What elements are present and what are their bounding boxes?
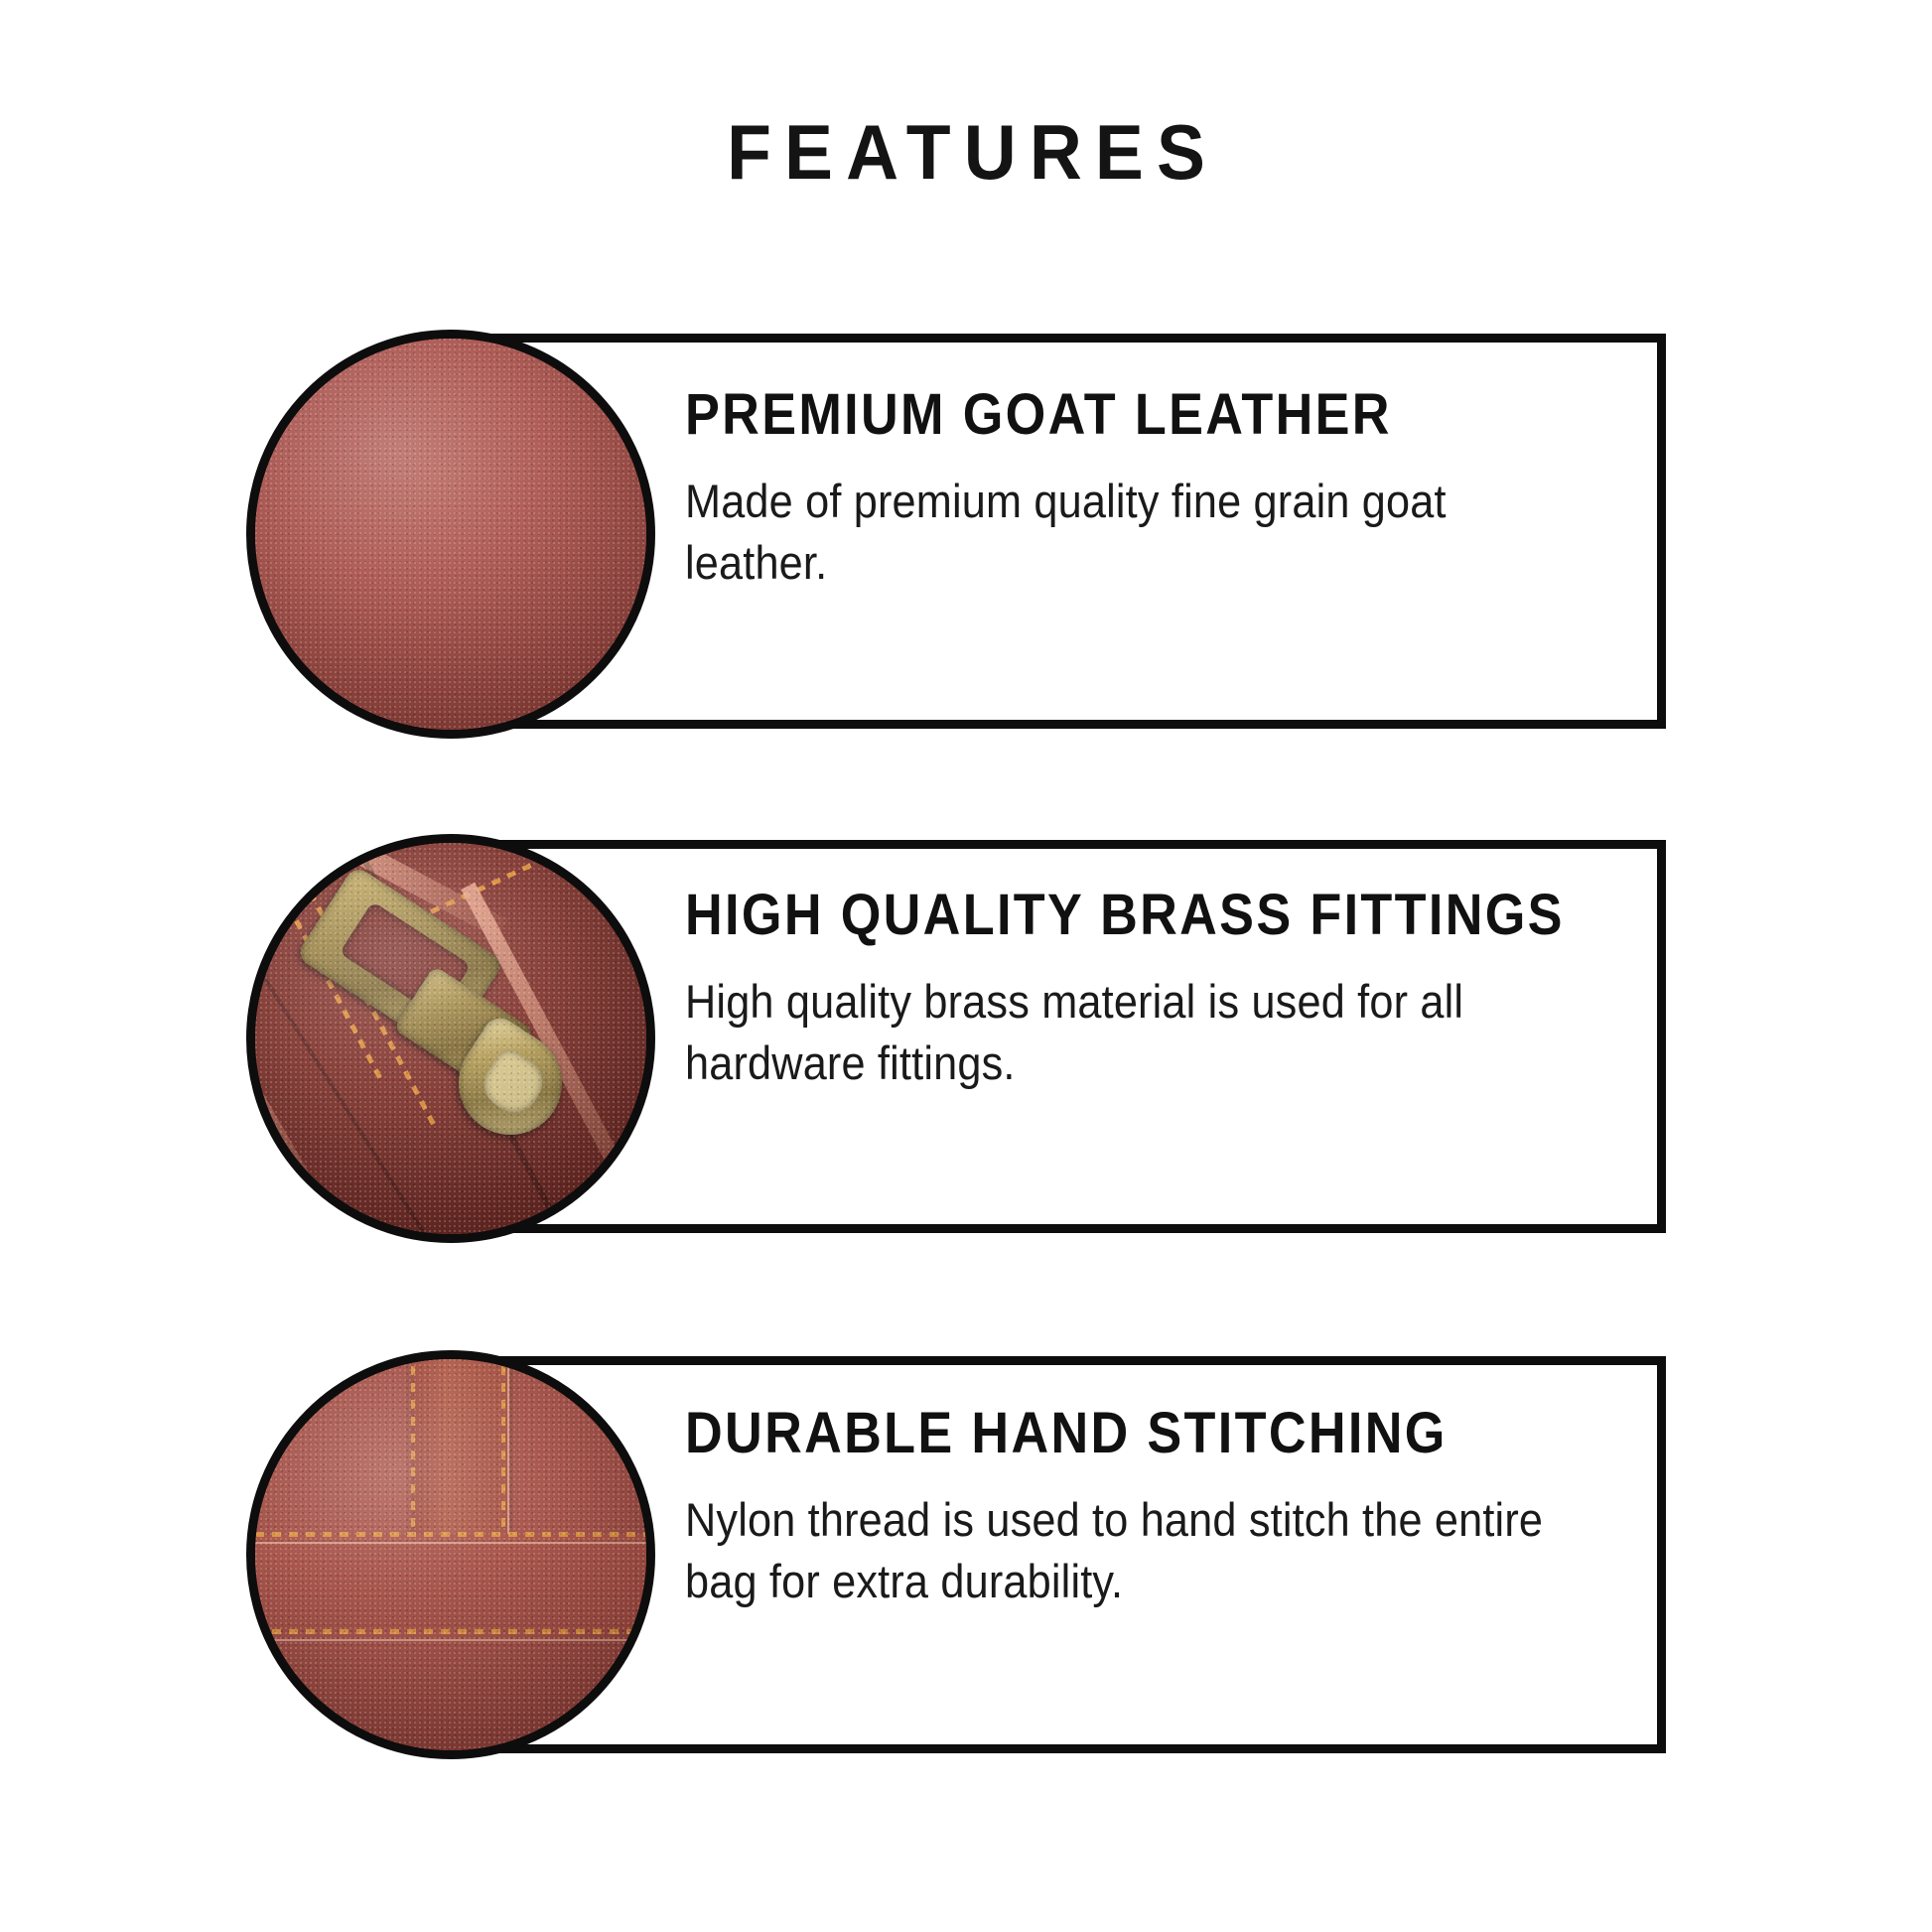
feature-row: DURABLE HAND STITCHING Nylon thread is u… [246,1350,1682,1759]
brass-buckle-circle [246,834,655,1243]
feature-text-block: HIGH QUALITY BRASS FITTINGS High quality… [685,884,1628,1094]
leather-texture [255,339,646,730]
feature-row: HIGH QUALITY BRASS FITTINGS High quality… [246,834,1682,1243]
page-title: FEATURES [58,109,1873,195]
feature-description: Nylon thread is used to hand stitch the … [685,1489,1598,1612]
feature-row: PREMIUM GOAT LEATHER Made of premium qua… [246,330,1682,739]
leather-grain [255,1359,646,1750]
leather-texture [255,843,646,1234]
feature-heading: HIGH QUALITY BRASS FITTINGS [685,884,1534,947]
leather-grain [255,843,646,1234]
feature-heading: DURABLE HAND STITCHING [685,1402,1534,1465]
feature-description: High quality brass material is used for … [685,971,1598,1094]
feature-text-block: DURABLE HAND STITCHING Nylon thread is u… [685,1402,1628,1612]
leather-grain [255,339,646,730]
feature-heading: PREMIUM GOAT LEATHER [685,383,1534,447]
feature-text-block: PREMIUM GOAT LEATHER Made of premium qua… [685,383,1628,594]
feature-description: Made of premium quality fine grain goat … [685,471,1598,594]
hand-stitching-circle [246,1350,655,1759]
leather-texture [255,1359,646,1750]
leather-swatch-circle [246,330,655,739]
features-infographic: FEATURES PREMIUM GOAT LEATHER Made of pr… [0,0,1932,1932]
